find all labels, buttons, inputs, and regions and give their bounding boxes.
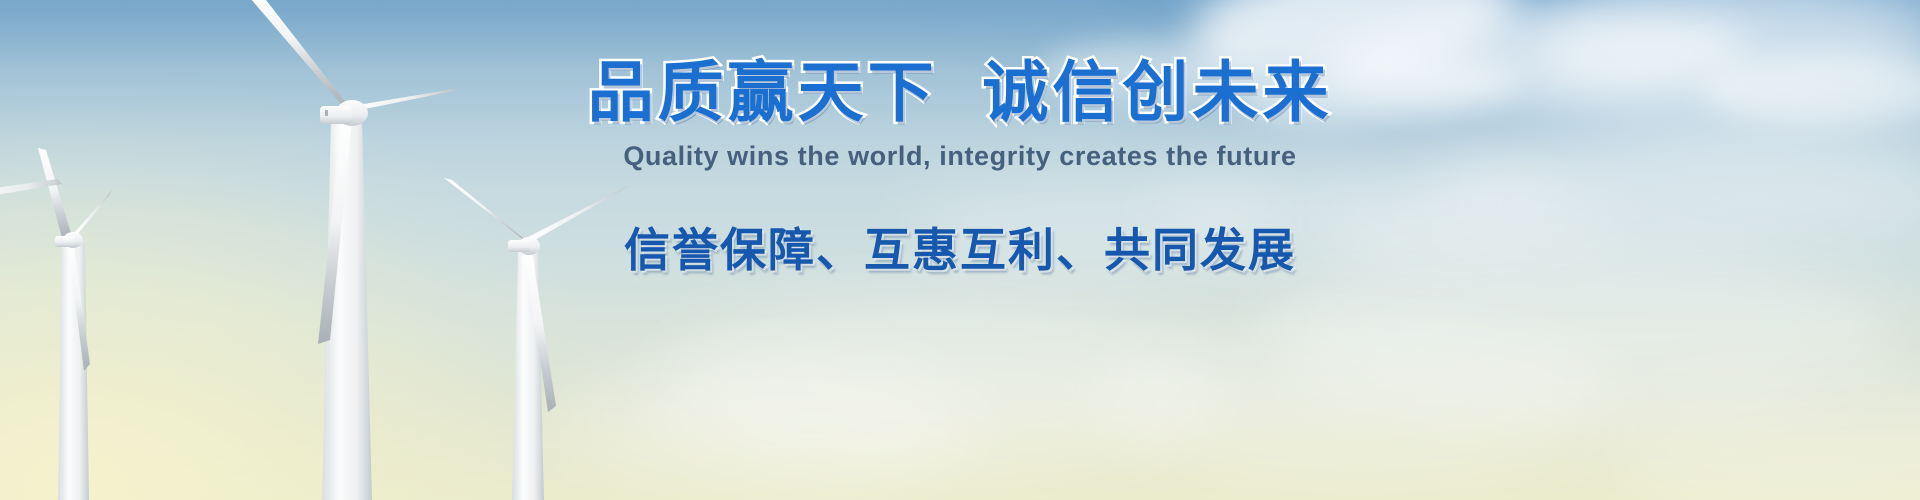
- wind-turbine: [38, 148, 112, 500]
- promo-banner: 品质赢天下 诚信创未来 Quality wins the world, inte…: [0, 0, 1920, 500]
- wind-turbine: [238, 0, 460, 500]
- wind-turbine: [444, 178, 630, 500]
- wind-turbine-group: [0, 0, 1920, 500]
